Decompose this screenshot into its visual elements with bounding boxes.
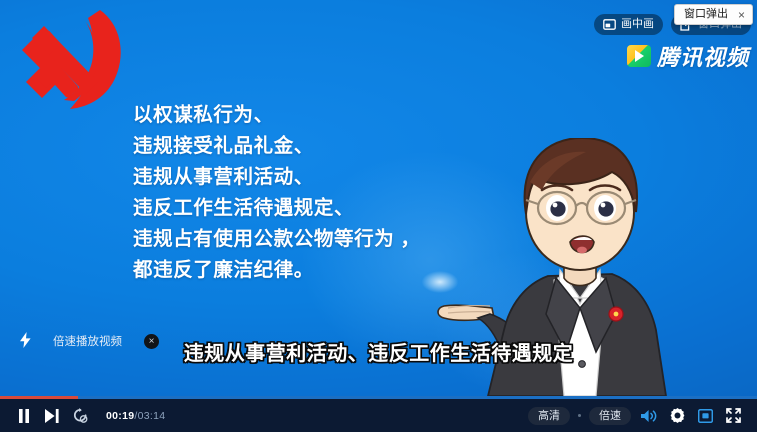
pause-button[interactable] xyxy=(10,399,38,432)
brand-name: 腾讯视频 xyxy=(657,40,749,72)
video-player: 以权谋私行为、 违规接受礼品礼金、 违规从事营利活动、 违反工作生活待遇规定、 … xyxy=(0,0,757,432)
window-popout-tooltip: 窗口弹出 × xyxy=(674,4,753,25)
video-subtitle: 违规从事营利活动、违反工作生活待遇规定 xyxy=(0,337,757,366)
picture-in-picture-icon xyxy=(698,409,713,423)
replay-button[interactable] xyxy=(66,399,94,432)
video-stage[interactable]: 以权谋私行为、 违规接受礼品礼金、 违规从事营利活动、 违反工作生活待遇规定、 … xyxy=(0,0,757,396)
fullscreen-icon xyxy=(726,408,741,423)
close-icon[interactable]: × xyxy=(738,9,745,21)
time-current: 00:19 xyxy=(106,410,134,422)
pause-icon xyxy=(18,409,30,423)
timecode-display: 00:19/03:14 xyxy=(106,410,165,422)
control-bar-right: 高清 倍速 xyxy=(524,399,757,432)
slide-line: 以权谋私行为、 xyxy=(133,100,493,131)
playback-speed-selector[interactable]: 倍速 xyxy=(589,407,631,425)
replay-icon xyxy=(73,408,88,423)
volume-button[interactable] xyxy=(635,399,663,432)
picture-in-picture-label: 画中画 xyxy=(621,14,654,35)
tencent-video-logo: 腾讯视频 xyxy=(627,40,749,72)
picture-in-picture-icon xyxy=(603,18,616,31)
play-triangle-icon xyxy=(627,45,651,67)
control-bar-left: 00:19/03:14 xyxy=(0,399,165,432)
next-track-icon xyxy=(45,409,59,423)
pip-control-button[interactable] xyxy=(691,399,719,432)
time-total: 03:14 xyxy=(138,410,166,422)
control-bar: 00:19/03:14 高清 倍速 xyxy=(0,399,757,432)
gear-icon xyxy=(670,408,685,423)
volume-icon xyxy=(641,409,657,423)
picture-in-picture-button[interactable]: 画中画 xyxy=(594,14,663,35)
separator-dot xyxy=(578,414,581,417)
settings-button[interactable] xyxy=(663,399,691,432)
next-track-button[interactable] xyxy=(38,399,66,432)
fullscreen-button[interactable] xyxy=(719,399,747,432)
hammer-and-sickle-emblem-icon xyxy=(4,8,128,112)
tooltip-text: 窗口弹出 xyxy=(684,8,728,21)
quality-selector[interactable]: 高清 xyxy=(528,407,570,425)
